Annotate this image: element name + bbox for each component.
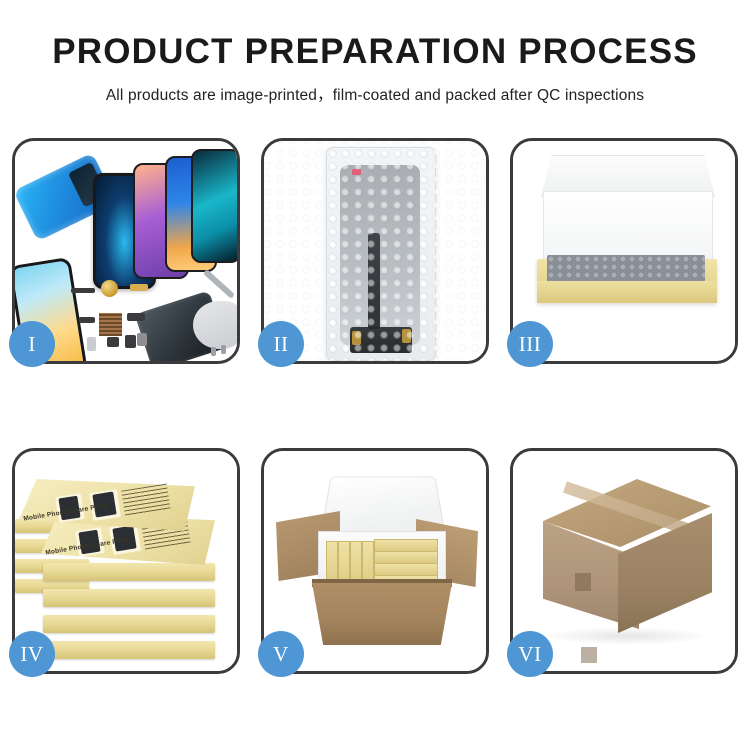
small-part-6	[125, 335, 136, 348]
page-title: PRODUCT PREPARATION PROCESS	[0, 34, 750, 71]
carton-tab-upper	[575, 573, 591, 591]
grey-bubble-filling	[547, 255, 705, 283]
page-subtitle: All products are image-printed，film-coat…	[0, 83, 750, 105]
stacked-box-r1	[43, 641, 215, 659]
step-badge-3: III	[507, 321, 553, 367]
process-grid: I II	[12, 138, 738, 674]
stacked-box-r2	[43, 615, 215, 633]
sim-tray-part	[87, 337, 96, 351]
gold-box-front-edge	[537, 281, 717, 303]
stacked-box-r3	[43, 589, 215, 607]
small-part-2	[130, 284, 148, 291]
step-badge-5: V	[258, 631, 304, 677]
process-step-4[interactable]: Mobile Phone Spare Parts Mobile Phone Sp…	[12, 448, 240, 674]
step-badge-1: I	[9, 321, 55, 367]
carton-tab-lower	[581, 647, 597, 663]
speaker-coil-part	[101, 280, 118, 297]
process-step-6[interactable]: VI	[510, 448, 738, 674]
process-step-1[interactable]: I	[12, 138, 240, 364]
gold-contact-right	[402, 329, 411, 343]
chip-grid-part	[99, 313, 122, 336]
carton-body	[312, 583, 452, 645]
step-badge-6: VI	[507, 631, 553, 677]
small-part-4	[127, 313, 145, 321]
page-root: PRODUCT PREPARATION PROCESS All products…	[0, 0, 750, 750]
stacked-box-r4	[43, 563, 215, 581]
process-step-5[interactable]: V	[261, 448, 489, 674]
step-badge-4: IV	[9, 631, 55, 677]
small-part-3	[79, 317, 95, 323]
small-part-1	[71, 288, 95, 293]
page-header: PRODUCT PREPARATION PROCESS All products…	[0, 34, 750, 105]
step-badge-2: II	[258, 321, 304, 367]
screw-part-2	[221, 345, 226, 354]
pink-label-sticker	[352, 169, 361, 175]
carton-shadow	[541, 627, 713, 645]
small-part-5	[107, 337, 119, 347]
process-step-3[interactable]: III	[510, 138, 738, 364]
screw-part-1	[211, 347, 216, 356]
hand-shape	[193, 301, 237, 349]
phone-display-d	[191, 149, 237, 263]
wrapped-screen	[340, 165, 420, 345]
small-part-7	[137, 333, 147, 346]
gold-contact-left	[352, 331, 361, 345]
flex-cable	[368, 233, 380, 329]
process-step-2[interactable]: II	[261, 138, 489, 364]
